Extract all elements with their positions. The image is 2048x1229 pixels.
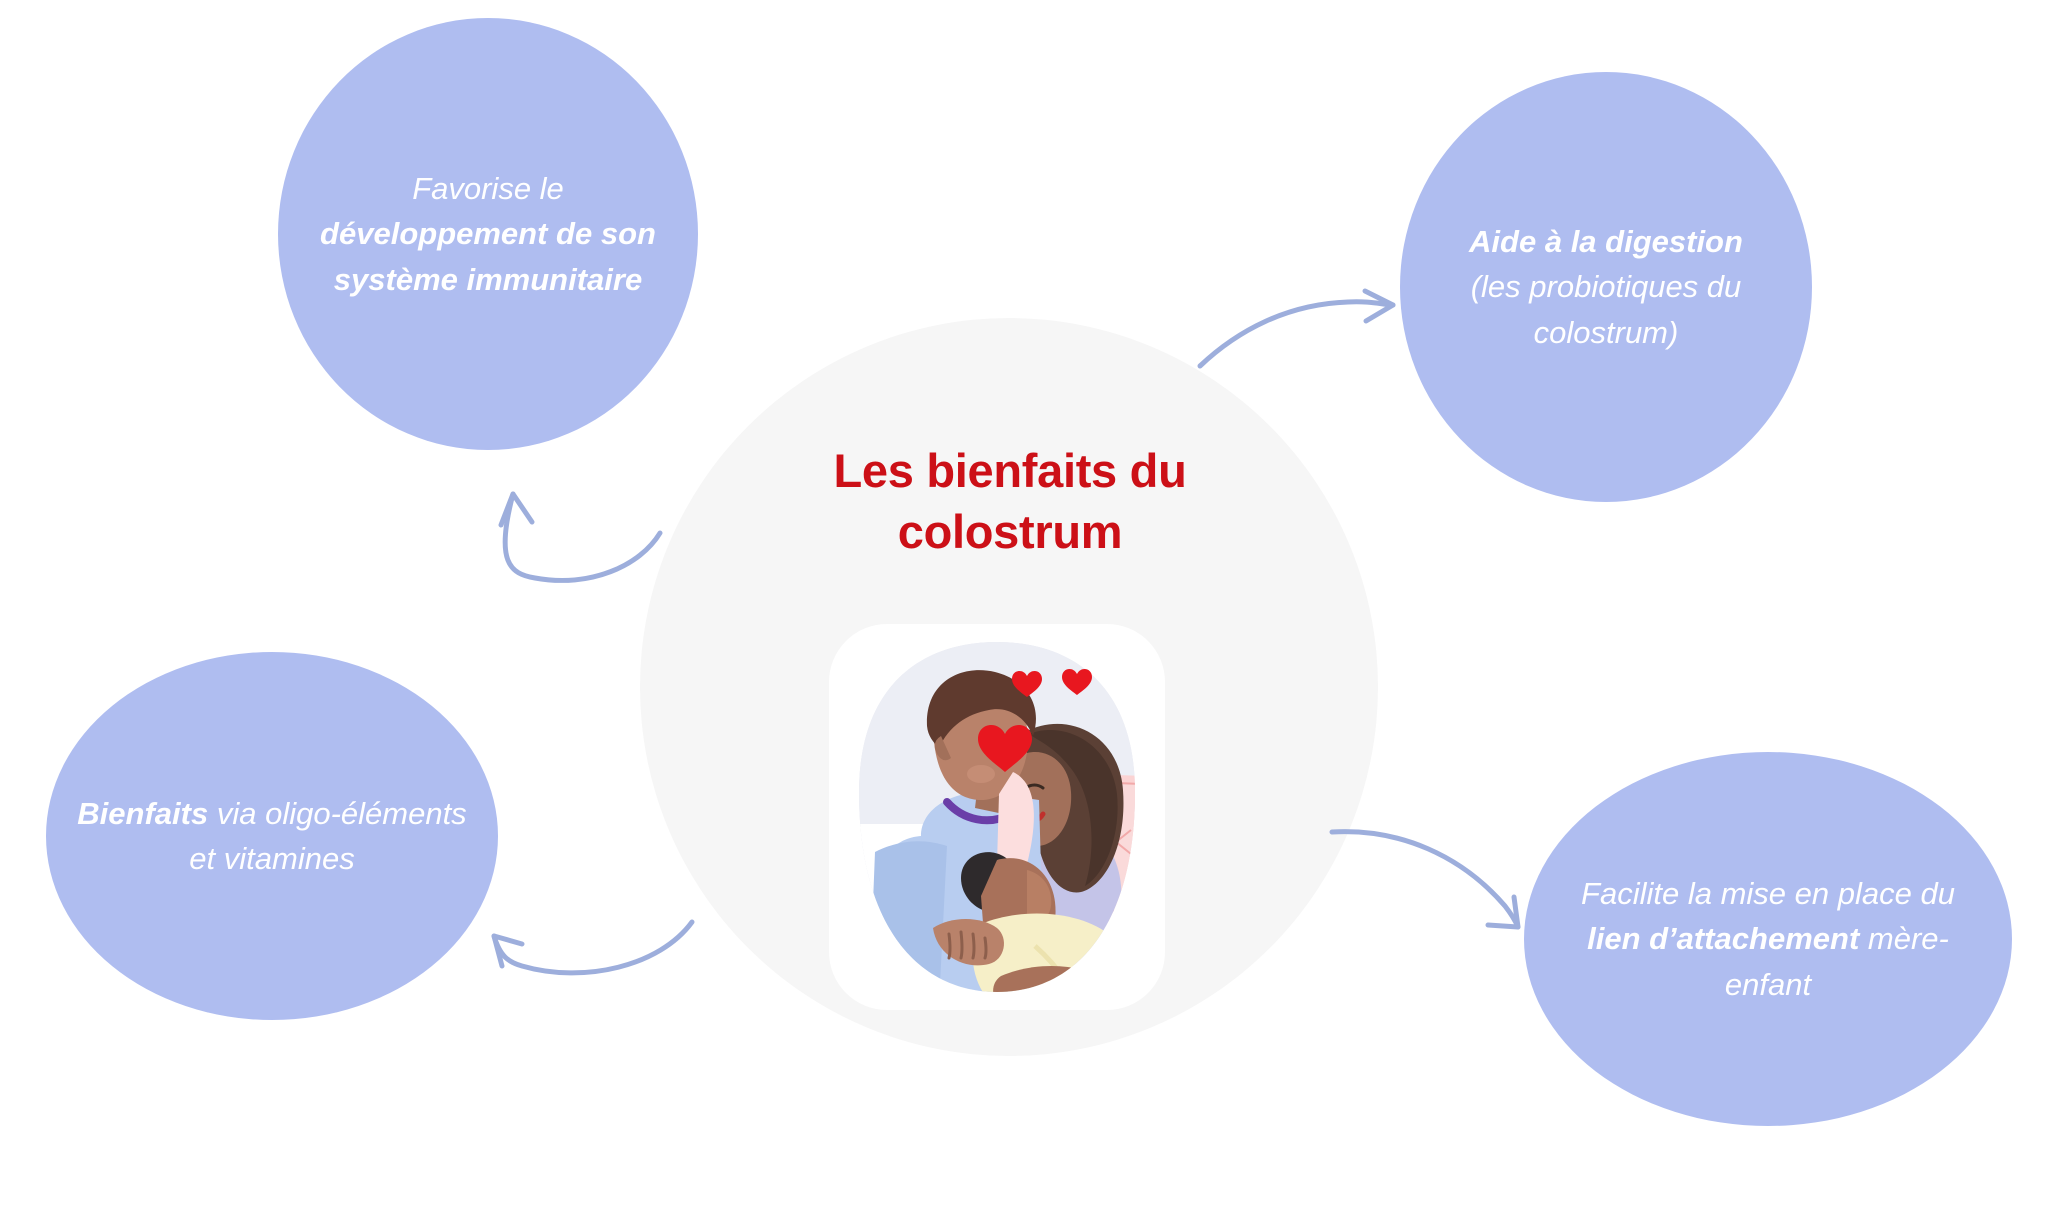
arrow-to-nutrients-icon	[494, 922, 692, 973]
family-mother-father-newborn-icon	[829, 624, 1165, 1010]
benefit-bubble-bonding-text: Facilite la mise en place du lien d’atta…	[1524, 871, 2012, 1007]
benefit-bubble-immunity-text: Favorise le développement de son système…	[278, 166, 698, 302]
immunity-light-prefix: Favorise le	[412, 171, 564, 206]
arrow-to-bonding-icon	[1332, 832, 1518, 927]
digestion-bold-text: Aide à la digestion	[1469, 224, 1743, 259]
bonding-light-prefix: Facilite la mise en place du	[1581, 876, 1955, 911]
family-illustration-card	[829, 624, 1165, 1010]
page-title: Les bienfaits du colostrum	[700, 440, 1320, 562]
title-line-2: colostrum	[700, 501, 1320, 562]
infographic-canvas: Les bienfaits du colostrum	[0, 0, 2048, 1229]
benefit-bubble-nutrients-text: Bienfaits via oligo-éléments et vitamine…	[46, 791, 498, 882]
nutrients-light-suffix: via oligo-éléments et vitamines	[189, 796, 466, 876]
bonding-bold-text: lien d’attachement	[1587, 921, 1859, 956]
arrow-to-digestion-icon	[1200, 291, 1393, 366]
nutrients-bold-text: Bienfaits	[77, 796, 208, 831]
title-line-1: Les bienfaits du	[700, 440, 1320, 501]
arrow-to-immunity-icon	[501, 494, 660, 580]
benefit-bubble-nutrients[interactable]: Bienfaits via oligo-éléments et vitamine…	[46, 652, 498, 1020]
immunity-bold-text: développement de son système immunitaire	[320, 216, 656, 296]
benefit-bubble-digestion-text: Aide à la digestion (les probiotiques du…	[1400, 219, 1812, 355]
benefit-bubble-bonding[interactable]: Facilite la mise en place du lien d’atta…	[1524, 752, 2012, 1126]
digestion-light-suffix: (les probiotiques du colostrum)	[1471, 269, 1742, 349]
benefit-bubble-immunity[interactable]: Favorise le développement de son système…	[278, 18, 698, 450]
benefit-bubble-digestion[interactable]: Aide à la digestion (les probiotiques du…	[1400, 72, 1812, 502]
